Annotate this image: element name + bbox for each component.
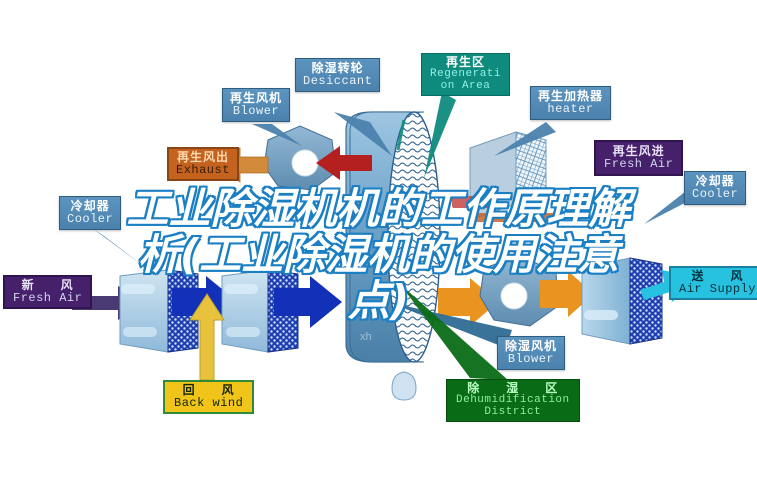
label-dehum-blower-cn: 除湿风机 xyxy=(505,340,557,353)
label-desiccant-rotor-en: Desiccant xyxy=(303,75,372,88)
label-cooler-right-cn: 冷却器 xyxy=(692,175,738,188)
label-exhaust[interactable]: 再生风出 Exhaust xyxy=(167,147,239,181)
label-air-supply[interactable]: 送 风 Air Supply xyxy=(669,266,757,300)
duct-highlight xyxy=(226,327,260,337)
label-regen-air-in[interactable]: 再生风进 Fresh Air xyxy=(594,140,683,176)
heater-element xyxy=(470,213,562,222)
label-fresh-air-en: Fresh Air xyxy=(13,292,82,305)
heater-coil-red xyxy=(452,196,490,208)
supply-coil xyxy=(630,258,662,344)
label-regen-blower-cn: 再生风机 xyxy=(230,92,282,105)
label-fresh-air[interactable]: 新 风 Fresh Air xyxy=(3,275,92,309)
duct-highlight xyxy=(584,310,618,320)
label-dehum-blower[interactable]: 除湿风机 Blower xyxy=(497,336,565,370)
label-regen-air-in-cn: 再生风进 xyxy=(604,145,673,158)
condensate-drop xyxy=(392,372,416,400)
label-regen-blower[interactable]: 再生风机 Blower xyxy=(222,88,290,122)
leader-cooler-left xyxy=(92,228,146,268)
duct-highlight xyxy=(224,284,258,294)
label-exhaust-en: Exhaust xyxy=(176,164,230,177)
label-regen-air-in-en: Fresh Air xyxy=(604,158,673,171)
label-back-wind[interactable]: 回 风 Back wind xyxy=(163,380,254,414)
mid-duct-body xyxy=(222,270,268,352)
label-dehum-district[interactable]: 除 湿 区 Dehumidification District xyxy=(446,379,580,422)
label-cooler-right[interactable]: 冷却器 Cooler xyxy=(684,171,746,205)
label-cooler-left-en: Cooler xyxy=(67,213,113,226)
duct-highlight xyxy=(123,327,157,337)
label-exhaust-cn: 再生风出 xyxy=(176,151,230,164)
label-regen-heater-cn: 再生加热器 xyxy=(538,90,603,103)
dehum-blower-hub xyxy=(501,283,527,309)
label-air-supply-cn: 送 风 xyxy=(679,270,756,283)
intake-duct-body xyxy=(120,270,168,352)
mid-intake-section xyxy=(222,270,342,352)
label-dehum-district-cn: 除 湿 区 xyxy=(456,382,570,395)
label-cooler-left[interactable]: 冷却器 Cooler xyxy=(59,196,121,230)
regen-heater-assembly xyxy=(452,132,562,222)
regen-blower-hub xyxy=(292,150,318,176)
label-regen-area-cn: 再生区 xyxy=(430,56,501,69)
supply-duct-body xyxy=(582,258,630,344)
label-dehum-district-en2: District xyxy=(456,407,570,419)
duct-highlight xyxy=(121,284,155,294)
label-regen-area[interactable]: 再生区 Regenerati on Area xyxy=(421,53,510,96)
label-regen-blower-en: Blower xyxy=(230,105,282,118)
label-back-wind-cn: 回 风 xyxy=(174,384,243,397)
label-fresh-air-cn: 新 风 xyxy=(13,279,82,292)
label-air-supply-en: Air Supply xyxy=(679,283,756,296)
label-cooler-right-en: Cooler xyxy=(692,188,738,201)
rotor-watermark: xh xyxy=(360,331,372,343)
label-desiccant-rotor[interactable]: 除湿转轮 Desiccant xyxy=(295,58,380,92)
label-cooler-left-cn: 冷却器 xyxy=(67,200,113,213)
label-desiccant-rotor-cn: 除湿转轮 xyxy=(303,62,372,75)
label-regen-heater-en: heater xyxy=(538,103,603,116)
label-back-wind-en: Back wind xyxy=(174,397,243,410)
label-dehum-blower-en: Blower xyxy=(505,353,557,366)
label-regen-heater[interactable]: 再生加热器 heater xyxy=(530,86,611,120)
diagram-canvas: xh xyxy=(0,0,757,488)
label-regen-area-en2: on Area xyxy=(430,81,501,93)
